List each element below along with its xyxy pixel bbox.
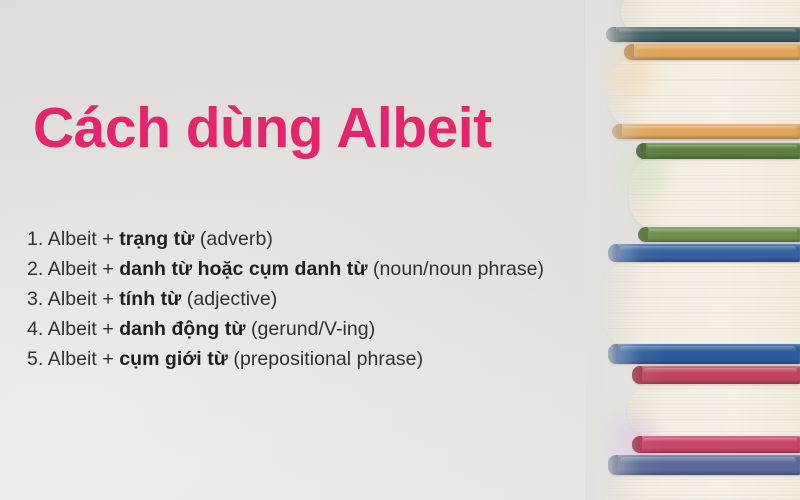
book-1-teal-spine bbox=[607, 27, 800, 42]
spine-highlight bbox=[649, 229, 797, 233]
list-item-lead: Albeit + bbox=[43, 318, 119, 340]
spine-highlight bbox=[619, 29, 797, 33]
page-title: Cách dùng Albeit bbox=[33, 96, 492, 160]
spine-highlight bbox=[643, 368, 797, 373]
list-item-gloss: (prepositional phrase) bbox=[228, 348, 423, 370]
book-7-blue-spine bbox=[609, 344, 800, 364]
book-3-orange-spine bbox=[613, 124, 800, 139]
list-item-term: cụm giới từ bbox=[119, 348, 228, 370]
list-item-lead: Albeit + bbox=[43, 228, 119, 250]
page-block bbox=[603, 473, 800, 500]
list-item-gloss: (noun/noun phrase) bbox=[368, 258, 545, 280]
book-4-green-spine bbox=[637, 143, 800, 159]
list-item-lead: Albeit + bbox=[43, 348, 119, 370]
list-item: 3. Albeit + tính từ (adjective) bbox=[27, 284, 607, 314]
list-item-term: trạng từ bbox=[119, 228, 194, 250]
spine-highlight bbox=[620, 457, 796, 462]
stack-of-books-photo bbox=[585, 0, 800, 500]
book-9-pink-spine bbox=[633, 436, 800, 453]
usage-list: 1. Albeit + trạng từ (adverb) 2. Albeit … bbox=[27, 224, 607, 374]
page-block bbox=[627, 382, 800, 440]
list-item-term: danh từ hoặc cụm danh từ bbox=[119, 258, 367, 280]
spine-highlight bbox=[643, 438, 797, 442]
list-item-number: 4. bbox=[27, 318, 43, 340]
list-item-lead: Albeit + bbox=[43, 288, 119, 310]
list-item-lead: Albeit + bbox=[43, 258, 119, 280]
page-block bbox=[607, 58, 800, 128]
spine-highlight bbox=[620, 346, 796, 351]
list-item: 5. Albeit + cụm giới từ (prepositional p… bbox=[27, 344, 607, 374]
book-8-crimson-spine bbox=[633, 366, 800, 384]
list-item-gloss: (adverb) bbox=[194, 228, 272, 250]
book-5-green-spine bbox=[639, 227, 800, 242]
spine-highlight bbox=[647, 145, 797, 149]
list-item: 4. Albeit + danh động từ (gerund/V-ing) bbox=[27, 314, 607, 344]
list-item-number: 1. bbox=[27, 228, 43, 250]
list-item: 2. Albeit + danh từ hoặc cụm danh từ (no… bbox=[27, 254, 607, 284]
spine-highlight bbox=[636, 46, 797, 50]
page-block bbox=[603, 260, 800, 348]
list-item-term: danh động từ bbox=[119, 318, 245, 340]
list-item: 1. Albeit + trạng từ (adverb) bbox=[27, 224, 607, 254]
book-2-orange-spine bbox=[625, 44, 800, 60]
poster-canvas: Cách dùng Albeit 1. Albeit + trạng từ (a… bbox=[0, 0, 800, 500]
list-item-term: tính từ bbox=[119, 288, 181, 310]
list-item-gloss: (adjective) bbox=[181, 288, 277, 310]
list-item-number: 2. bbox=[27, 258, 43, 280]
text-column: Cách dùng Albeit 1. Albeit + trạng từ (a… bbox=[0, 0, 620, 500]
spine-highlight bbox=[624, 126, 796, 130]
list-item-number: 3. bbox=[27, 288, 43, 310]
book-10-slateblue-spine bbox=[609, 455, 800, 475]
page-block bbox=[629, 157, 800, 231]
list-item-gloss: (gerund/V-ing) bbox=[246, 318, 376, 340]
spine-highlight bbox=[620, 246, 796, 251]
book-6-blue-spine bbox=[609, 244, 800, 262]
list-item-number: 5. bbox=[27, 348, 43, 370]
